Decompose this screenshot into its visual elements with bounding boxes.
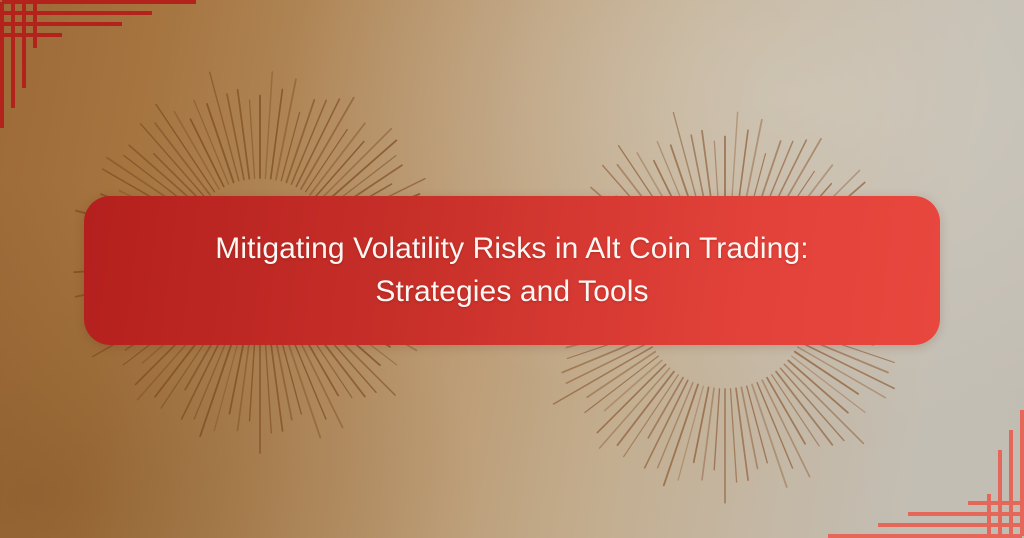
page-title: Mitigating Volatility Risks in Alt Coin …: [162, 228, 862, 313]
hero-banner-image: Mitigating Volatility Risks in Alt Coin …: [0, 0, 1024, 538]
title-banner: Mitigating Volatility Risks in Alt Coin …: [84, 196, 940, 345]
